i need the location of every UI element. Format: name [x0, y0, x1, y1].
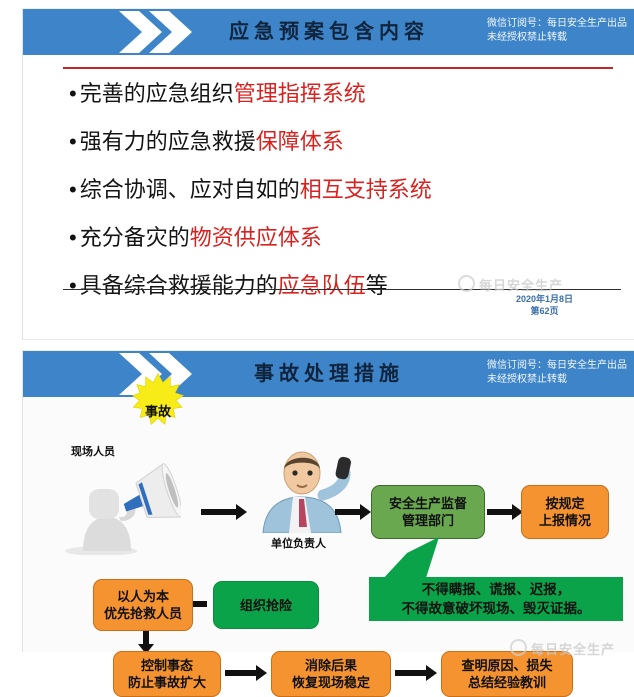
screenshot-page: 应急预案包含内容 微信订阅号：每日安全生产出品 未经授权禁止转载 • 完善的应急… [0, 0, 634, 651]
node-report-line2: 上报情况 [539, 512, 591, 529]
node-eliminate-consequence[interactable]: 消除后果 恢复现场稳定 [271, 651, 391, 697]
bullet-highlight: 相互支持系统 [300, 178, 432, 203]
bullet-text: 强有力的应急救援保障体系 [80, 129, 344, 157]
slide2-note-line1: 微信订阅号：每日安全生产出品 [487, 359, 627, 373]
slide1-footer: 每日安全生产 2020年1月8日 第62页 [63, 281, 621, 321]
node-supervision-line1: 安全生产监督 [389, 495, 467, 512]
node-report-line1: 按规定 [539, 495, 591, 512]
slide1-page-number: 第62页 [516, 305, 573, 317]
callout-line2: 不得故意破坏现场、毁灭证据。 [402, 599, 591, 618]
arrow-control-to-eliminate [225, 670, 257, 676]
node-investigate-line1: 查明原因、损失 [461, 657, 552, 674]
arrow-people-first-to-control [143, 631, 149, 645]
bullet-highlight: 管理指挥系统 [234, 82, 366, 107]
bullet-highlight: 物资供应体系 [190, 226, 322, 251]
bullet-highlight: 保障体系 [256, 130, 344, 155]
bullet-text: 综合协调、应对自如的相互支持系统 [80, 177, 432, 205]
node-control-line1: 控制事态 [128, 657, 206, 674]
node-supervision-department[interactable]: 安全生产监督 管理部门 [371, 485, 485, 539]
bullet-marker: • [69, 225, 77, 251]
bullet-plain: 完善的应急组织 [80, 82, 234, 107]
bullet-plain: 综合协调、应对自如的 [80, 178, 300, 203]
arrow-manager-to-dept [335, 509, 361, 515]
accident-burst-label: 事故 [121, 401, 195, 420]
list-item: • 充分备灾的物资供应体系 [69, 225, 615, 253]
slide-emergency-plan: 应急预案包含内容 微信订阅号：每日安全生产出品 未经授权禁止转载 • 完善的应急… [22, 8, 634, 340]
callout-line1: 不得瞒报、谎报、迟报， [402, 580, 591, 599]
bullet-marker: • [69, 129, 77, 155]
bullet-text: 充分备灾的物资供应体系 [80, 225, 322, 253]
node-supervision-line2: 管理部门 [389, 512, 467, 529]
node-control-situation[interactable]: 控制事态 防止事故扩大 [113, 651, 221, 697]
wechat-circle-icon [510, 639, 527, 656]
list-item: • 综合协调、应对自如的相互支持系统 [69, 177, 615, 205]
node-people-first-line2: 优先抢救人员 [104, 605, 182, 622]
list-item: • 强有力的应急救援保障体系 [69, 129, 615, 157]
watermark: 每日安全生产 [458, 275, 563, 294]
watermark: 每日安全生产 [510, 639, 615, 658]
slide2-note-line2: 未经授权禁止转载 [487, 373, 627, 387]
node-eliminate-line2: 恢复现场稳定 [292, 674, 370, 691]
bullet-plain: 充分备灾的 [80, 226, 190, 251]
node-control-line2: 防止事故扩大 [128, 674, 206, 691]
slide1-date: 2020年1月8日 [516, 293, 573, 305]
slide1-note-line1: 微信订阅号：每日安全生产出品 [487, 17, 627, 31]
slide1-header: 应急预案包含内容 微信订阅号：每日安全生产出品 未经授权禁止转载 [23, 9, 634, 55]
callout-tail-icon [381, 537, 441, 581]
label-unit-manager: 单位负责人 [271, 535, 326, 551]
list-item: • 完善的应急组织管理指挥系统 [69, 81, 615, 109]
bullet-plain: 强有力的应急救援 [80, 130, 256, 155]
slide2-copyright-note: 微信订阅号：每日安全生产出品 未经授权禁止转载 [487, 359, 627, 387]
slide1-copyright-note: 微信订阅号：每日安全生产出品 未经授权禁止转载 [487, 17, 627, 45]
node-people-first-line1: 以人为本 [104, 588, 182, 605]
node-people-first[interactable]: 以人为本 优先抢救人员 [93, 579, 193, 631]
slide2-header: 事故处理措施 微信订阅号：每日安全生产出品 未经授权禁止转载 [23, 351, 634, 397]
unit-manager-figure [253, 447, 363, 533]
node-investigate-line2: 总结经验教训 [461, 674, 552, 691]
slide-accident-handling: 事故处理措施 微信订阅号：每日安全生产出品 未经授权禁止转载 事故 现场人员 [22, 350, 634, 652]
node-organize-rescue[interactable]: 组织抢险 [213, 581, 319, 629]
slide1-body: • 完善的应急组织管理指挥系统 • 强有力的应急救援保障体系 • 综合协调、应对… [23, 55, 634, 339]
bullet-text: 完善的应急组织管理指挥系统 [80, 81, 366, 109]
wechat-circle-icon [458, 275, 475, 292]
watermark-text: 每日安全生产 [479, 278, 563, 293]
arrow-eliminate-to-investigate [395, 670, 427, 676]
arrow-dept-to-report [487, 509, 513, 515]
slide1-note-line2: 未经授权禁止转载 [487, 31, 627, 45]
bullet-marker: • [69, 81, 77, 107]
bullet-marker: • [69, 177, 77, 203]
arrow-personnel-to-manager [201, 509, 237, 515]
watermark-text: 每日安全生产 [531, 642, 615, 657]
red-divider [63, 67, 613, 69]
node-report-as-required[interactable]: 按规定 上报情况 [521, 485, 609, 539]
slide2-body: 事故 现场人员 [23, 397, 634, 652]
node-organize-rescue-label: 组织抢险 [240, 597, 292, 614]
slide1-date-block: 2020年1月8日 第62页 [516, 293, 573, 317]
node-eliminate-line1: 消除后果 [292, 657, 370, 674]
callout-no-concealment: 不得瞒报、谎报、迟报， 不得故意破坏现场、毁灭证据。 [369, 577, 623, 621]
onsite-personnel-figure [61, 455, 181, 555]
